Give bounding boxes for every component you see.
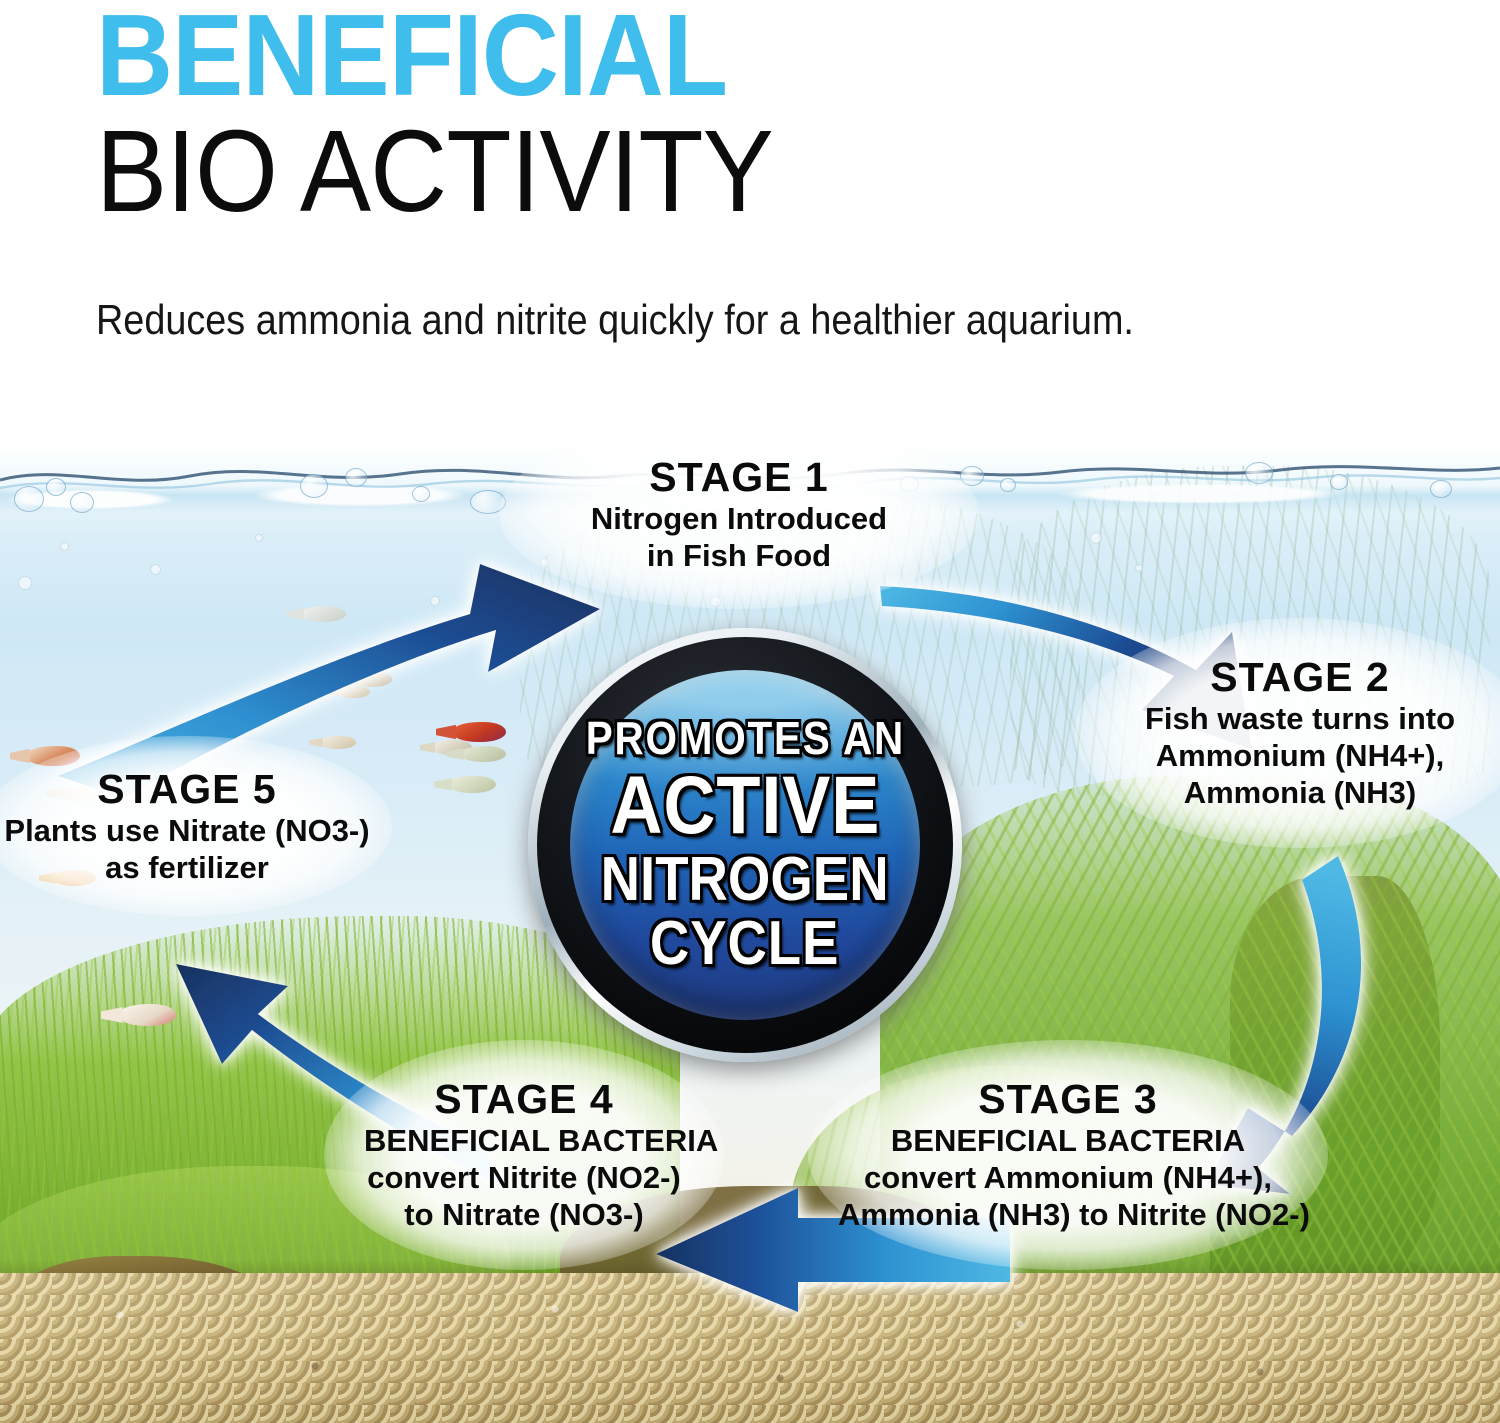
stage-3-line-2: convert Ammonium (NH4+), <box>838 1159 1298 1196</box>
stage-2-label: STAGE 2 Fish waste turns into Ammonium (… <box>1098 654 1500 811</box>
stage-4-line-3: to Nitrate (NO3-) <box>364 1196 684 1233</box>
stage-2-line-2: Ammonium (NH4+), <box>1098 737 1500 774</box>
stage-5-line-1: Plants use Nitrate (NO3-) <box>2 812 372 849</box>
badge-line-1: PROMOTES AN <box>585 715 904 761</box>
stage-4-line-1: BENEFICIAL BACTERIA <box>364 1122 684 1159</box>
stage-2-line-1: Fish waste turns into <box>1098 700 1500 737</box>
stage-5-line-2: as fertilizer <box>2 849 372 886</box>
stage-1-heading: STAGE 1 <box>522 454 956 500</box>
page-title-line1: BENEFICIAL <box>96 0 727 114</box>
stage-3-label: STAGE 3 BENEFICIAL BACTERIA convert Ammo… <box>838 1076 1298 1233</box>
stage-5-label: STAGE 5 Plants use Nitrate (NO3-) as fer… <box>2 766 372 886</box>
stage-3-line-3: Ammonia (NH3) to Nitrite (NO2-) <box>838 1196 1298 1233</box>
stage-1-line-1: Nitrogen Introduced <box>522 500 956 537</box>
stage-5-heading: STAGE 5 <box>2 766 372 812</box>
badge-line-2: ACTIVE <box>610 765 880 847</box>
badge-text-block: PROMOTES AN ACTIVE NITROGEN CYCLE <box>528 628 962 1062</box>
stage-2-heading: STAGE 2 <box>1098 654 1500 700</box>
stage-4-heading: STAGE 4 <box>364 1076 684 1122</box>
header: BENEFICIAL BIO ACTIVITY Reduces ammonia … <box>0 0 1500 446</box>
stage-1-label: STAGE 1 Nitrogen Introduced in Fish Food <box>522 454 956 574</box>
badge-line-4: CYCLE <box>650 913 839 975</box>
active-nitrogen-cycle-badge: PROMOTES AN ACTIVE NITROGEN CYCLE <box>528 628 962 1062</box>
infographic-root: BENEFICIAL BIO ACTIVITY Reduces ammonia … <box>0 0 1500 1423</box>
page-subtitle: Reduces ammonia and nitrite quickly for … <box>96 295 1134 345</box>
stage-4-line-2: convert Nitrite (NO2-) <box>364 1159 684 1196</box>
badge-line-3: NITROGEN <box>601 849 889 911</box>
stage-2-line-3: Ammonia (NH3) <box>1098 774 1500 811</box>
stage-3-heading: STAGE 3 <box>838 1076 1298 1122</box>
stage-3-line-1: BENEFICIAL BACTERIA <box>838 1122 1298 1159</box>
stage-4-label: STAGE 4 BENEFICIAL BACTERIA convert Nitr… <box>364 1076 684 1233</box>
stage-1-line-2: in Fish Food <box>522 537 956 574</box>
page-title-line2: BIO ACTIVITY <box>96 112 773 230</box>
aquarium-scene: PROMOTES AN ACTIVE NITROGEN CYCLE STAGE … <box>0 446 1500 1423</box>
